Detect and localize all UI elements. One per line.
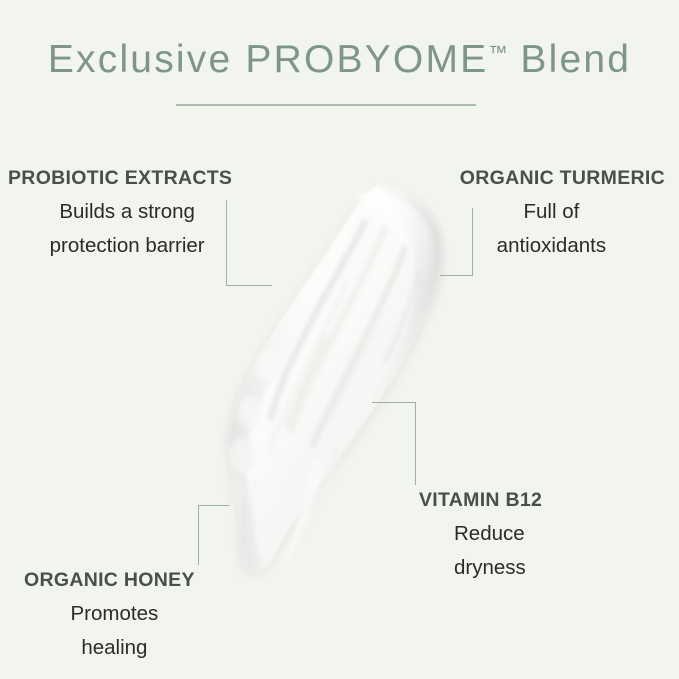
cream-tail-streaks [245, 446, 342, 572]
callout-heading: PROBIOTIC EXTRACTS [8, 168, 232, 189]
callout-body: Builds a strong protection barrier [8, 195, 232, 261]
callout-body-line1: Full of [460, 195, 643, 228]
callout-body-line2: protection barrier [22, 229, 232, 262]
cream-shadow [227, 188, 443, 576]
connector-honey-horizontal [198, 505, 229, 506]
callout-body-line2: healing [34, 631, 195, 664]
cream-shade-left [228, 258, 330, 574]
callout-vitamin-b12: VITAMIN B12 Reduce dryness [419, 490, 542, 584]
connector-vitamin-vertical [415, 402, 416, 485]
callout-heading: ORGANIC TURMERIC [460, 168, 665, 189]
callout-body-line2: antioxidants [460, 229, 643, 262]
callout-body: Full of antioxidants [460, 195, 665, 261]
page-title: Exclusive PROBYOME™ Blend [0, 38, 679, 82]
callout-body: Promotes healing [24, 597, 195, 663]
cream-body [228, 184, 443, 574]
callout-body-line1: Reduce [454, 517, 542, 550]
callout-probiotic-extracts: PROBIOTIC EXTRACTS Builds a strong prote… [8, 168, 232, 262]
connector-probiotic-horizontal [226, 285, 272, 286]
callout-heading: ORGANIC HONEY [24, 570, 195, 591]
callout-body: Reduce dryness [419, 517, 542, 583]
trademark-symbol: ™ [488, 43, 507, 64]
callout-body-line2: dryness [454, 551, 542, 584]
cream-highlight-top [356, 190, 432, 282]
cream-texture [268, 220, 420, 456]
callout-organic-honey: ORGANIC HONEY Promotes healing [24, 570, 195, 664]
cream-shade-right [330, 184, 443, 472]
connector-turmeric-horizontal [440, 275, 473, 276]
page-title-text: Exclusive PROBYOME [48, 38, 489, 81]
callout-heading: VITAMIN B12 [419, 490, 542, 511]
callout-body-line1: Promotes [34, 597, 195, 630]
title-divider [176, 104, 476, 106]
connector-vitamin-horizontal [372, 402, 416, 403]
callout-organic-turmeric: ORGANIC TURMERIC Full of antioxidants [460, 168, 665, 262]
callout-body-line1: Builds a strong [22, 195, 232, 228]
page-title-suffix: Blend [507, 38, 631, 81]
infographic-canvas: Exclusive PROBYOME™ Blend [0, 0, 679, 679]
cream-edge-lumps [225, 351, 280, 506]
connector-honey-vertical [198, 505, 199, 565]
